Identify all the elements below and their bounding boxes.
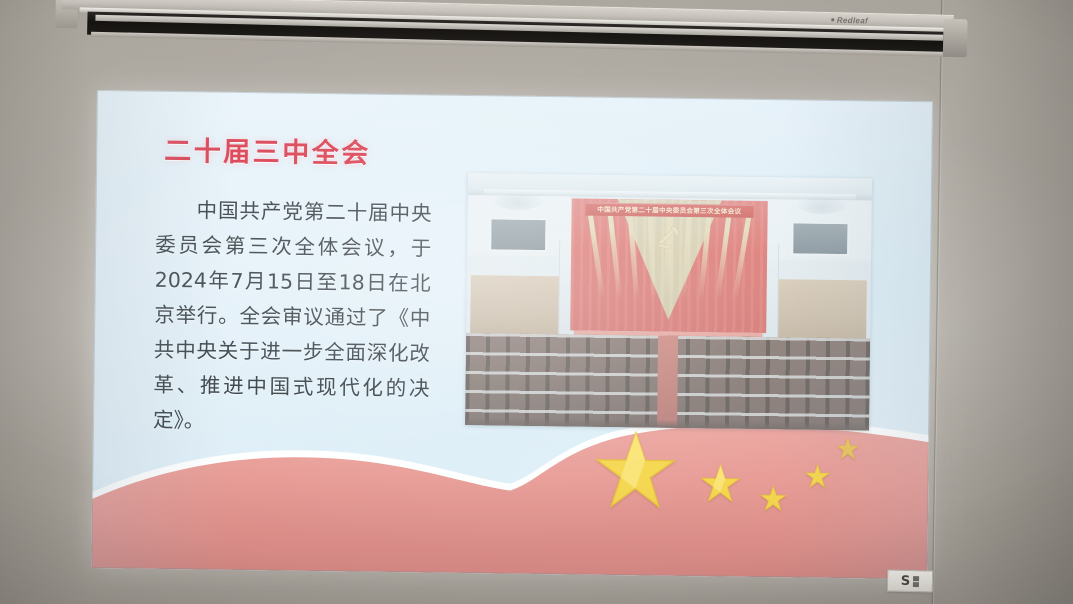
conference-hall-photo: 中国共产党第二十届中央委员会第三次全体会议 — [465, 173, 872, 430]
hall-banner: 中国共产党第二十届中央委员会第三次全体会议 — [586, 203, 754, 218]
slide-title: 二十届三中全会 — [164, 129, 371, 171]
brand-dot-icon — [831, 18, 834, 21]
star-small-icon-1 — [699, 463, 742, 506]
sticker-mark: S — [901, 574, 911, 587]
star-small-icon-3 — [804, 464, 830, 490]
wall-shadow-right — [955, 0, 1073, 604]
photo-of-classroom-projection: Redleaf 二十届三中全会 中国共产党第二十届中央委员会第三次全体会议，于2… — [0, 0, 1073, 604]
hall-vent-left — [489, 217, 547, 252]
star-small-icon-4 — [836, 437, 860, 461]
hall-stage-backdrop: 中国共产党第二十届中央委员会第三次全体会议 — [570, 198, 768, 333]
wall-shadow-left — [0, 0, 90, 604]
star-large-icon — [592, 429, 679, 516]
wall-sticker: S — [887, 570, 933, 593]
hall-center-aisle — [657, 336, 678, 428]
slide-canvas: 二十届三中全会 中国共产党第二十届中央委员会第三次全体会议，于2024年7月15… — [91, 90, 933, 579]
projected-slide: 二十届三中全会 中国共产党第二十届中央委员会第三次全体会议，于2024年7月15… — [91, 90, 933, 579]
hall-audience-seating — [465, 333, 870, 430]
star-small-icon-2 — [759, 485, 787, 513]
housing-end-cap-right — [943, 19, 968, 58]
brand-name: Redleaf — [836, 15, 868, 25]
sticker-bars-icon — [913, 576, 919, 587]
hall-banner-text: 中国共产党第二十届中央委员会第三次全体会议 — [598, 205, 742, 216]
hall-vent-right — [791, 221, 849, 256]
party-emblem-icon — [652, 222, 686, 252]
slide-body-text: 中国共产党第二十届中央委员会第三次全体会议，于2024年7月15日至18日在北京… — [153, 193, 432, 442]
housing-brand-logo: Redleaf — [831, 15, 868, 25]
